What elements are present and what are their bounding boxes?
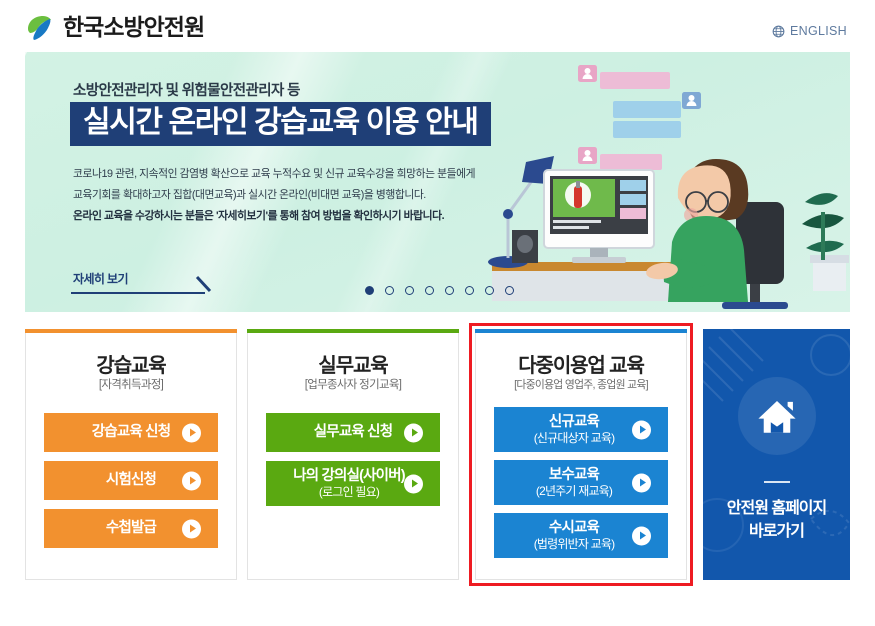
program-cards: 강습교육 [자격취득과정] 강습교육 신청 시험신청 수첩발급 실무교육 [업무… [25, 329, 850, 580]
panel-divider [764, 481, 790, 483]
button-label: 신규교육 [534, 413, 615, 431]
page-root: 한국소방안전원 ENGLISH [0, 0, 875, 626]
card-subtitle: [업무종사자 정기교육] [248, 376, 458, 392]
carousel-dot-7[interactable] [485, 286, 494, 295]
button-sublabel: (신규대상자 교육) [534, 431, 615, 446]
button-label: 보수교육 [536, 466, 612, 484]
button-gangseup-apply[interactable]: 강습교육 신청 [44, 413, 218, 452]
carousel-dot-1[interactable] [365, 286, 374, 295]
play-icon [632, 473, 651, 492]
language-switch-english[interactable]: ENGLISH [772, 24, 847, 38]
card-dajung-highlight-frame: 다중이용업 교육 [다중이용업 영업주, 종업원 교육] 신규교육 (신규대상자… [469, 323, 693, 586]
button-sublabel: (2년주기 재교육) [536, 484, 612, 499]
banner-body-line-3: 온라인 교육을 수강하시는 분들은 '자세히보기'를 통해 참여 방법을 확인하… [73, 206, 493, 227]
card-title: 강습교육 [26, 349, 236, 378]
brand-name: 한국소방안전원 [63, 12, 204, 42]
carousel-dots[interactable] [365, 286, 514, 295]
globe-icon [772, 25, 785, 38]
panel-label: 안전원 홈페이지 바로가기 [703, 497, 850, 543]
card-accent-bar [475, 329, 687, 333]
play-icon [404, 474, 423, 493]
banner-body: 코로나19 관련, 지속적인 감염병 확산으로 교육 누적수요 및 신규 교육수… [73, 164, 493, 227]
play-icon [632, 526, 651, 545]
site-header: 한국소방안전원 ENGLISH [0, 0, 875, 54]
carousel-dot-5[interactable] [445, 286, 454, 295]
panel-homepage-shortcut[interactable]: 안전원 홈페이지 바로가기 [703, 329, 850, 580]
banner-more-underline [71, 292, 205, 294]
banner-body-line-1: 코로나19 관련, 지속적인 감염병 확산으로 교육 누적수요 및 신규 교육수… [73, 164, 493, 185]
banner-eyebrow: 소방안전관리자 및 위험물안전관리자 등 [73, 79, 300, 100]
promo-banner: 소방안전관리자 및 위험물안전관리자 등 실시간 온라인 강습교육 이용 안내 … [25, 52, 850, 312]
carousel-dot-8[interactable] [505, 286, 514, 295]
button-sublabel: (법령위반자 교육) [534, 537, 615, 552]
card-title: 다중이용업 교육 [476, 349, 686, 378]
banner-more-link[interactable]: 자세히 보기 [73, 270, 128, 287]
card-title: 실무교육 [248, 349, 458, 378]
panel-label-line-2: 바로가기 [749, 523, 804, 540]
button-occasional-education[interactable]: 수시교육 (법령위반자 교육) [494, 513, 668, 558]
brand-logo[interactable]: 한국소방안전원 [24, 12, 204, 42]
home-icon [738, 377, 816, 455]
button-my-classroom[interactable]: 나의 강의실(사이버) (로그인 필요) [266, 461, 440, 506]
button-label: 실무교육 신청 [314, 423, 392, 441]
carousel-dot-2[interactable] [385, 286, 394, 295]
play-icon [182, 519, 201, 538]
button-label: 수첩발급 [106, 519, 156, 537]
carousel-dot-6[interactable] [465, 286, 474, 295]
button-label: 나의 강의실(사이버) [293, 467, 405, 485]
arrow-down-right-icon [193, 274, 215, 296]
card-subtitle: [다중이용업 영업주, 종업원 교육] [476, 376, 686, 392]
banner-body-line-2: 교육기회를 확대하고자 집합(대면교육)과 실시간 온라인(비대면 교육)을 병… [73, 185, 493, 206]
card-accent-bar [25, 329, 237, 333]
button-certificate-issue[interactable]: 수첩발급 [44, 509, 218, 548]
button-sublabel: (로그인 필요) [293, 485, 405, 500]
banner-title: 실시간 온라인 강습교육 이용 안내 [70, 102, 491, 146]
button-silmu-apply[interactable]: 실무교육 신청 [266, 413, 440, 452]
play-icon [182, 471, 201, 490]
button-new-education[interactable]: 신규교육 (신규대상자 교육) [494, 407, 668, 452]
card-dajung-education: 다중이용업 교육 [다중이용업 영업주, 종업원 교육] 신규교육 (신규대상자… [475, 329, 687, 580]
play-icon [632, 420, 651, 439]
language-label: ENGLISH [790, 24, 847, 38]
card-gangseup-education: 강습교육 [자격취득과정] 강습교육 신청 시험신청 수첩발급 [25, 329, 237, 580]
panel-label-line-1: 안전원 홈페이지 [727, 500, 827, 517]
card-silmu-education: 실무교육 [업무종사자 정기교육] 실무교육 신청 나의 강의실(사이버) (로… [247, 329, 459, 580]
play-icon [182, 423, 201, 442]
carousel-dot-3[interactable] [405, 286, 414, 295]
button-label: 시험신청 [106, 471, 156, 489]
online-class-illustration [450, 52, 850, 312]
card-subtitle: [자격취득과정] [26, 376, 236, 392]
button-exam-apply[interactable]: 시험신청 [44, 461, 218, 500]
button-label: 수시교육 [534, 519, 615, 537]
card-accent-bar [247, 329, 459, 333]
button-refresher-education[interactable]: 보수교육 (2년주기 재교육) [494, 460, 668, 505]
button-label: 강습교육 신청 [92, 423, 170, 441]
leaf-swoosh-logo-icon [24, 12, 54, 42]
play-icon [404, 423, 423, 442]
carousel-dot-4[interactable] [425, 286, 434, 295]
